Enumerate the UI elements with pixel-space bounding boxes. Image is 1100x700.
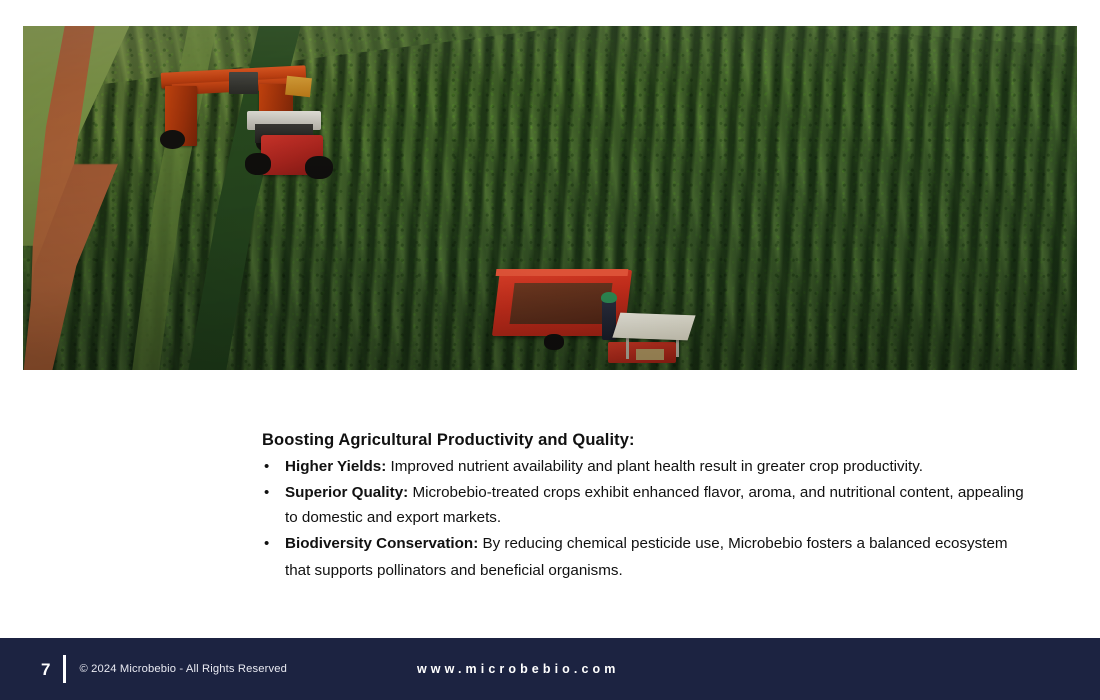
bullet-icon: • [264,531,269,556]
list-item: • Superior Quality: Microbebio-treated c… [262,480,1032,530]
copyright-text: © 2024 Microbebio - All Rights Reserved [79,663,286,675]
hero-photo [23,26,1077,370]
list-item-lead: Superior Quality: [285,484,408,501]
list-item-text: Improved nutrient availability and plant… [386,458,923,475]
website-url: www.microbebio.com [417,662,620,676]
slide-footer: 7 © 2024 Microbebio - All Rights Reserve… [0,638,1100,700]
list-item: • Biodiversity Conservation: By reducing… [262,531,1032,584]
bullet-icon: • [264,454,269,479]
list-item: • Higher Yields: Improved nutrient avail… [262,454,1032,479]
photo-vignette [23,26,1077,370]
list-item-lead: Biodiversity Conservation: [285,535,478,552]
page-number: 7 [41,661,50,678]
content-block: Boosting Agricultural Productivity and Q… [262,431,1032,585]
footer-divider [63,655,66,683]
section-heading: Boosting Agricultural Productivity and Q… [262,431,1032,450]
bullet-icon: • [264,480,269,505]
list-item-lead: Higher Yields: [285,458,386,475]
benefits-list: • Higher Yields: Improved nutrient avail… [262,454,1032,584]
